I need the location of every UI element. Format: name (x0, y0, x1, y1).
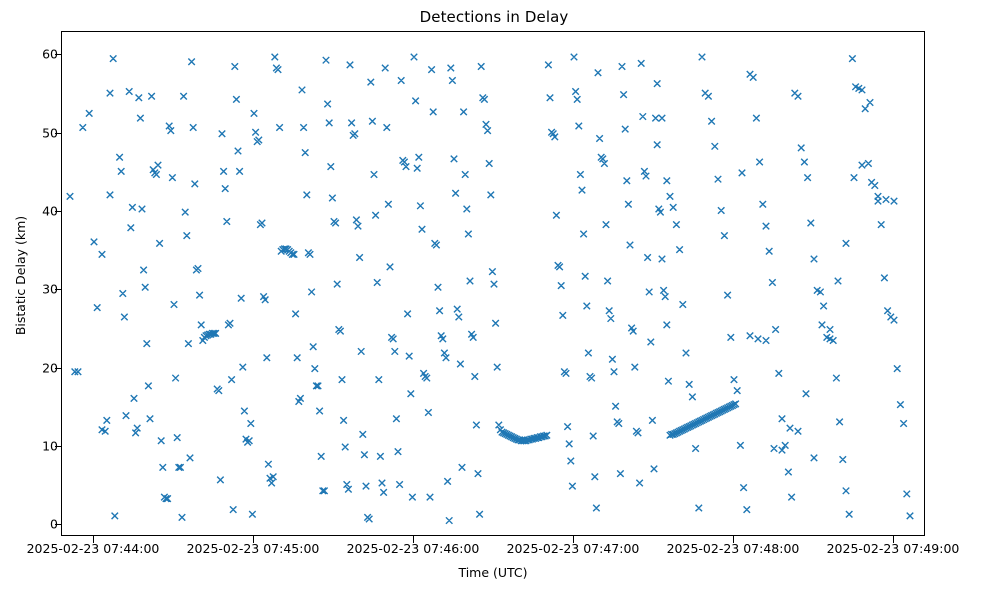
x-tick-mark (253, 536, 254, 543)
y-tick-mark (55, 446, 62, 447)
y-tick-label: 30 (0, 282, 58, 297)
y-tick-label: 40 (0, 204, 58, 219)
y-tick-label: 60 (0, 47, 58, 62)
y-tick-mark (55, 211, 62, 212)
y-tick-label: 50 (0, 125, 58, 140)
y-tick-mark (55, 368, 62, 369)
x-tick-mark (733, 536, 734, 543)
page-title: Detections in Delay (0, 8, 988, 26)
scatter-series (62, 32, 925, 536)
y-tick-mark (55, 289, 62, 290)
x-axis-label: Time (UTC) (61, 565, 925, 580)
y-tick-label: 20 (0, 360, 58, 375)
y-tick-mark (55, 133, 62, 134)
matplotlib-figure: Detections in Delay Bistatic Delay (km) … (0, 0, 988, 590)
plot-area (61, 31, 925, 536)
x-tick-label: 2025-02-23 07:49:00 (783, 541, 988, 556)
y-tick-mark (55, 524, 62, 525)
x-tick-mark (573, 536, 574, 543)
y-tick-label: 10 (0, 438, 58, 453)
y-tick-mark (55, 54, 62, 55)
x-tick-mark (413, 536, 414, 543)
x-tick-mark (93, 536, 94, 543)
x-tick-mark (893, 536, 894, 543)
y-tick-label: 0 (0, 517, 58, 532)
